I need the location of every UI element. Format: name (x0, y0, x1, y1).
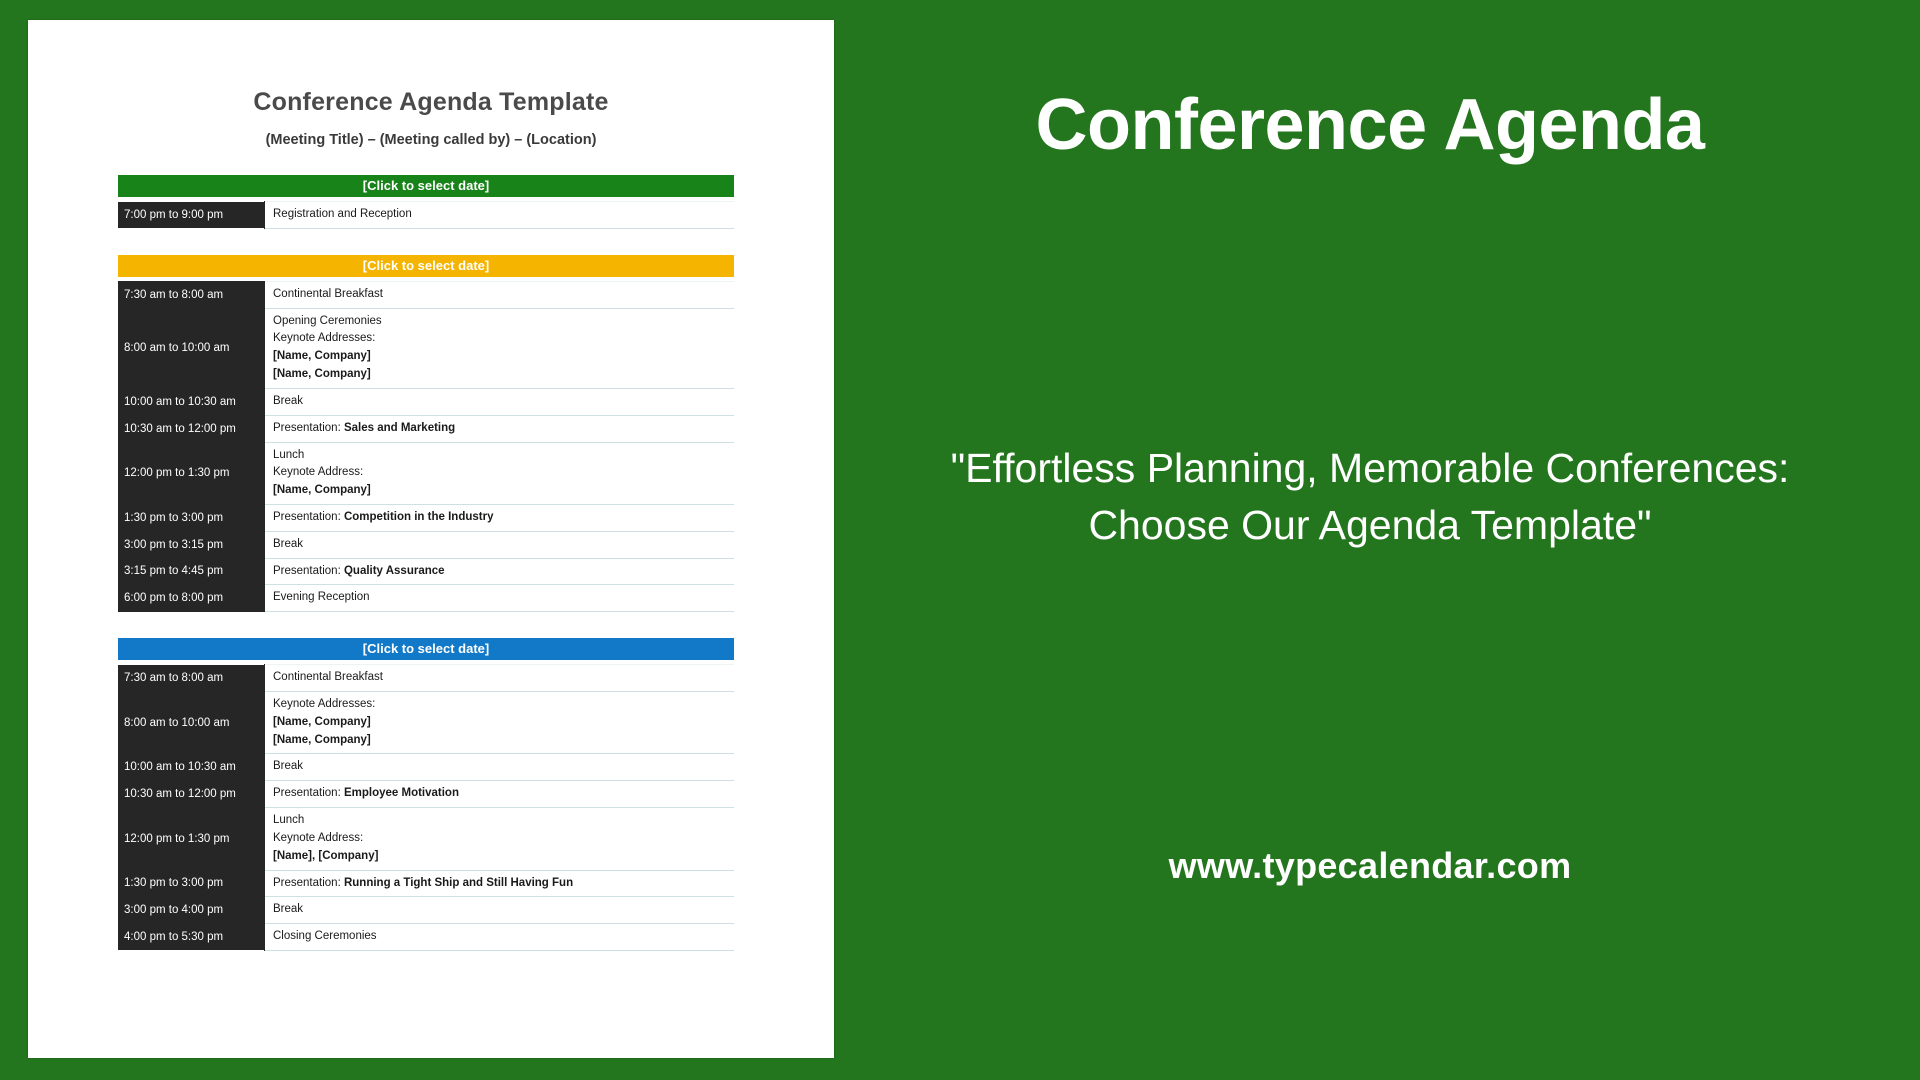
table-row: 10:30 am to 12:00 pmPresentation: Employ… (118, 781, 734, 808)
agenda-description-prefix: Presentation: (273, 565, 344, 577)
table-row: 3:00 pm to 4:00 pmBreak (118, 897, 734, 924)
agenda-description-cell: Keynote Addresses:[Name, Company][Name, … (265, 692, 735, 754)
agenda-time-cell: 12:00 pm to 1:30 pm (118, 808, 265, 870)
agenda-description-line: Closing Ceremonies (273, 928, 734, 946)
agenda-description-line: Break (273, 536, 734, 554)
document-subtitle: (Meeting Title) – (Meeting called by) – … (28, 132, 834, 148)
agenda-time-cell: 1:30 pm to 3:00 pm (118, 870, 265, 897)
agenda-description-line: Keynote Address: (273, 464, 734, 482)
agenda-description-line: Keynote Addresses: (273, 330, 734, 348)
agenda-description-cell: Break (265, 754, 735, 781)
table-row: 3:15 pm to 4:45 pmPresentation: Quality … (118, 558, 734, 585)
agenda-description-cell: Break (265, 531, 735, 558)
table-row: 8:00 am to 10:00 amOpening CeremoniesKey… (118, 308, 734, 388)
agenda-time-cell: 8:00 am to 10:00 am (118, 308, 265, 388)
agenda-time-cell: 10:00 am to 10:30 am (118, 754, 265, 781)
agenda-description-cell: LunchKeynote Address:[Name, Company] (265, 442, 735, 504)
table-row: 10:00 am to 10:30 amBreak (118, 754, 734, 781)
agenda-description-line: Break (273, 393, 734, 411)
table-row: 1:30 pm to 3:00 pmPresentation: Running … (118, 870, 734, 897)
agenda-description-cell: Continental Breakfast (265, 281, 735, 308)
agenda-description-cell: Presentation: Sales and Marketing (265, 415, 735, 442)
date-picker-button[interactable]: [Click to select date] (118, 638, 734, 660)
agenda-description-topic: Quality Assurance (344, 565, 445, 577)
agenda-description-line: Presentation: Competition in the Industr… (273, 509, 734, 527)
table-row: 6:00 pm to 8:00 pmEvening Reception (118, 585, 734, 612)
table-row: 7:30 am to 8:00 amContinental Breakfast (118, 281, 734, 308)
agenda-description-line: [Name, Company] (273, 482, 734, 500)
agenda-time-cell: 8:00 am to 10:00 am (118, 692, 265, 754)
agenda-description-cell: Break (265, 388, 735, 415)
agenda-time-cell: 6:00 pm to 8:00 pm (118, 585, 265, 612)
agenda-description-line: Registration and Reception (273, 206, 734, 224)
agenda-description-line: [Name], [Company] (273, 848, 734, 866)
agenda-description-line: Opening Ceremonies (273, 313, 734, 331)
agenda-description-cell: Presentation: Quality Assurance (265, 558, 735, 585)
agenda-description-cell: Continental Breakfast (265, 665, 735, 692)
agenda-description-topic: Employee Motivation (344, 787, 459, 799)
agenda-time-cell: 10:30 am to 12:00 pm (118, 415, 265, 442)
table-row: 12:00 pm to 1:30 pmLunchKeynote Address:… (118, 442, 734, 504)
agenda-time-cell: 7:00 pm to 9:00 pm (118, 202, 265, 229)
agenda-description-topic: Competition in the Industry (344, 511, 494, 523)
section-spacer (118, 612, 758, 638)
agenda-description-line: Break (273, 901, 734, 919)
agenda-description-cell: Presentation: Employee Motivation (265, 781, 735, 808)
agenda-description-cell: Closing Ceremonies (265, 924, 735, 951)
table-row: 10:00 am to 10:30 amBreak (118, 388, 734, 415)
agenda-time-cell: 3:00 pm to 3:15 pm (118, 531, 265, 558)
agenda-description-cell: Presentation: Competition in the Industr… (265, 504, 735, 531)
agenda-table: 7:30 am to 8:00 amContinental Breakfast8… (118, 281, 734, 612)
agenda-time-cell: 7:30 am to 8:00 am (118, 665, 265, 692)
promo-quote: "Effortless Planning, Memorable Conferen… (880, 440, 1860, 553)
table-row: 3:00 pm to 3:15 pmBreak (118, 531, 734, 558)
agenda-tables: [Click to select date]7:00 pm to 9:00 pm… (118, 175, 758, 951)
agenda-description-line: [Name, Company] (273, 714, 734, 732)
agenda-description-prefix: Presentation: (273, 511, 344, 523)
agenda-description-topic: Running a Tight Ship and Still Having Fu… (344, 877, 573, 889)
agenda-description-line: [Name, Company] (273, 348, 734, 366)
table-row: 4:00 pm to 5:30 pmClosing Ceremonies (118, 924, 734, 951)
document-page: Conference Agenda Template (Meeting Titl… (28, 20, 834, 1058)
agenda-time-cell: 1:30 pm to 3:00 pm (118, 504, 265, 531)
table-row: 7:00 pm to 9:00 pmRegistration and Recep… (118, 202, 734, 229)
agenda-description-line: Keynote Addresses: (273, 696, 734, 714)
table-row: 1:30 pm to 3:00 pmPresentation: Competit… (118, 504, 734, 531)
agenda-description-line: [Name, Company] (273, 732, 734, 750)
agenda-description-cell: Registration and Reception (265, 202, 735, 229)
table-row: 8:00 am to 10:00 amKeynote Addresses:[Na… (118, 692, 734, 754)
agenda-time-cell: 3:15 pm to 4:45 pm (118, 558, 265, 585)
agenda-description-line: Presentation: Running a Tight Ship and S… (273, 875, 734, 893)
section-spacer (118, 229, 758, 255)
agenda-description-cell: Presentation: Running a Tight Ship and S… (265, 870, 735, 897)
promo-website-url: www.typecalendar.com (880, 845, 1860, 887)
agenda-time-cell: 7:30 am to 8:00 am (118, 281, 265, 308)
document-content: Conference Agenda Template (Meeting Titl… (28, 20, 834, 1058)
agenda-description-line: Evening Reception (273, 589, 734, 607)
agenda-description-line: Presentation: Quality Assurance (273, 563, 734, 581)
agenda-description-line: Break (273, 758, 734, 776)
agenda-description-line: Presentation: Sales and Marketing (273, 420, 734, 438)
date-picker-button[interactable]: [Click to select date] (118, 255, 734, 277)
agenda-time-cell: 4:00 pm to 5:30 pm (118, 924, 265, 951)
agenda-description-line: [Name, Company] (273, 366, 734, 384)
agenda-description-prefix: Presentation: (273, 422, 344, 434)
agenda-day-block: [Click to select date]7:30 am to 8:00 am… (118, 638, 758, 951)
agenda-table: 7:30 am to 8:00 amContinental Breakfast8… (118, 664, 734, 951)
promo-headline: Conference Agenda (860, 88, 1880, 164)
agenda-description-line: Keynote Address: (273, 830, 734, 848)
agenda-description-prefix: Presentation: (273, 787, 344, 799)
table-row: 7:30 am to 8:00 amContinental Breakfast (118, 665, 734, 692)
agenda-description-cell: LunchKeynote Address:[Name], [Company] (265, 808, 735, 870)
agenda-description-line: Presentation: Employee Motivation (273, 785, 734, 803)
agenda-time-cell: 10:00 am to 10:30 am (118, 388, 265, 415)
agenda-time-cell: 12:00 pm to 1:30 pm (118, 442, 265, 504)
poster-canvas: Conference Agenda Template (Meeting Titl… (0, 0, 1920, 1080)
agenda-description-line: Continental Breakfast (273, 669, 734, 687)
agenda-description-line: Lunch (273, 447, 734, 465)
agenda-time-cell: 10:30 am to 12:00 pm (118, 781, 265, 808)
date-picker-button[interactable]: [Click to select date] (118, 175, 734, 197)
table-row: 10:30 am to 12:00 pmPresentation: Sales … (118, 415, 734, 442)
agenda-day-block: [Click to select date]7:30 am to 8:00 am… (118, 255, 758, 612)
agenda-description-topic: Sales and Marketing (344, 422, 455, 434)
agenda-time-cell: 3:00 pm to 4:00 pm (118, 897, 265, 924)
agenda-table: 7:00 pm to 9:00 pmRegistration and Recep… (118, 201, 734, 229)
agenda-description-prefix: Presentation: (273, 877, 344, 889)
agenda-description-cell: Break (265, 897, 735, 924)
agenda-description-line: Lunch (273, 812, 734, 830)
agenda-description-line: Continental Breakfast (273, 286, 734, 304)
agenda-description-cell: Evening Reception (265, 585, 735, 612)
agenda-day-block: [Click to select date]7:00 pm to 9:00 pm… (118, 175, 758, 229)
agenda-description-cell: Opening CeremoniesKeynote Addresses:[Nam… (265, 308, 735, 388)
document-title: Conference Agenda Template (28, 88, 834, 117)
table-row: 12:00 pm to 1:30 pmLunchKeynote Address:… (118, 808, 734, 870)
